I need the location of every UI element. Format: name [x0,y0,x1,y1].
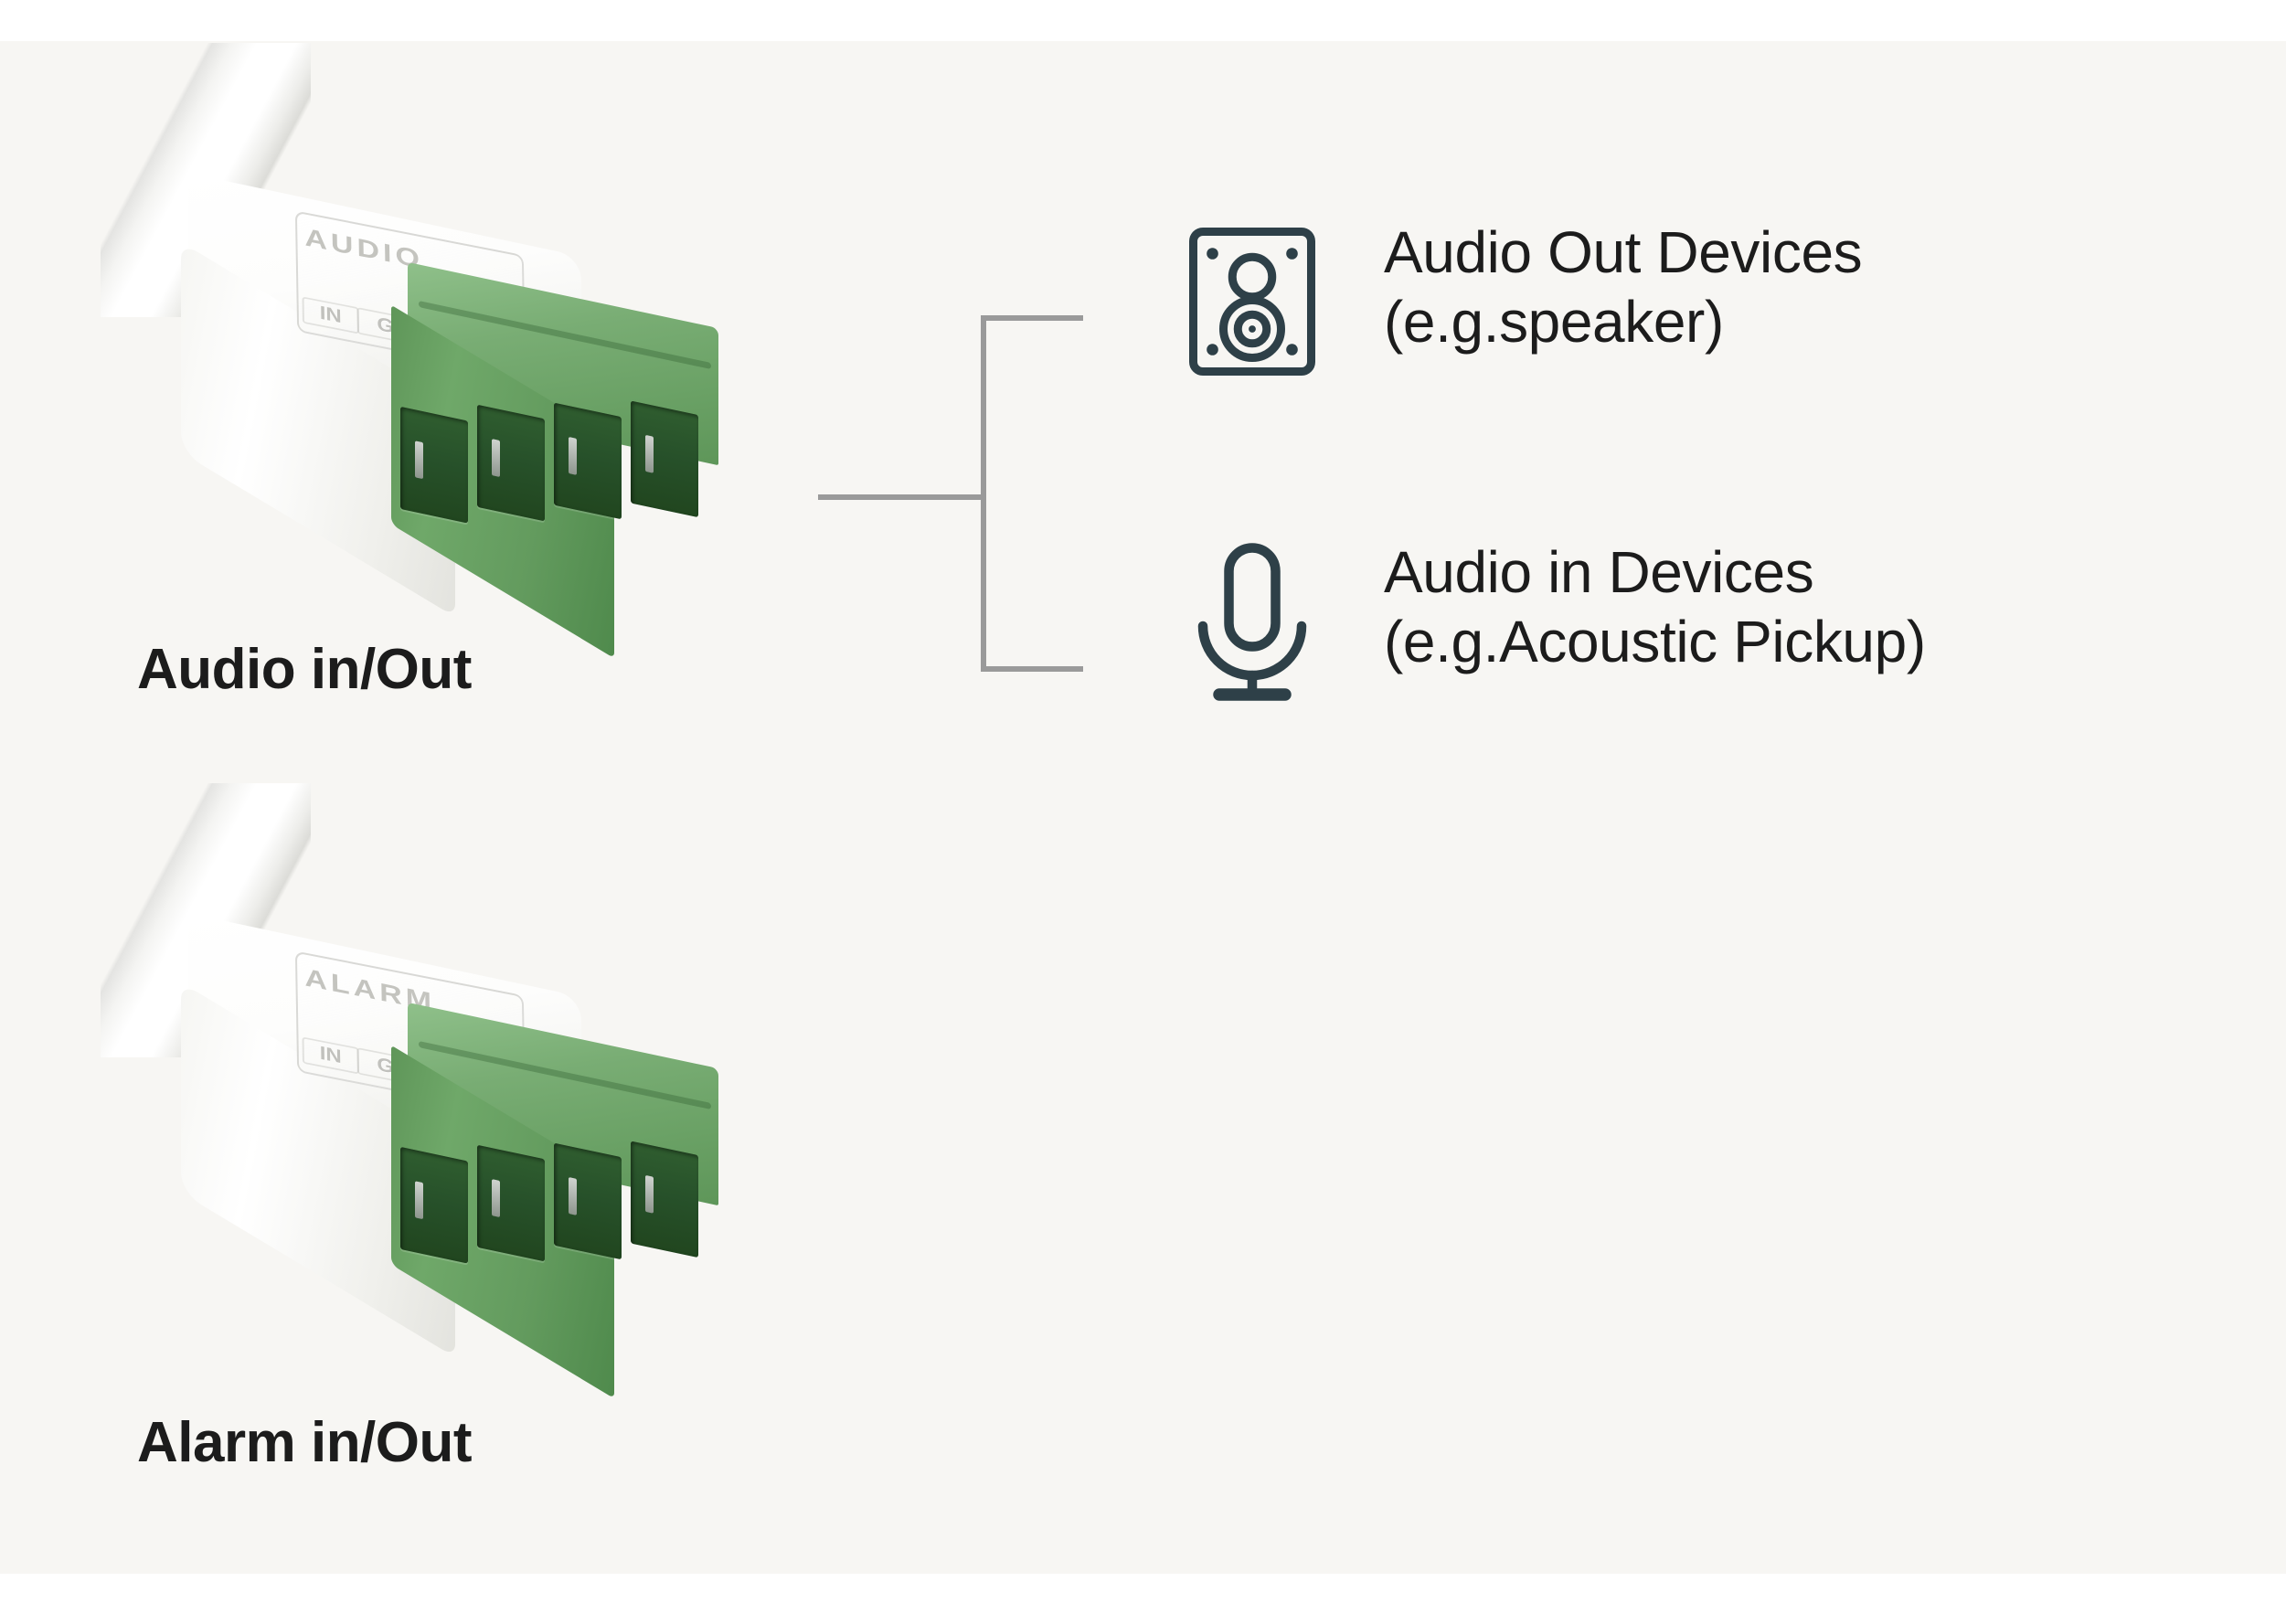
alarm-connector-photo: ALARM IN G OUT G [101,791,740,1375]
terminal-pin-slot [400,1147,468,1264]
bracket-spine [981,315,986,672]
audio-out-example: (e.g.speaker) [1384,288,1862,357]
microphone-icon [1170,535,1334,708]
alarm-caption: Alarm in/Out [137,1410,777,1475]
alarm-group: ALARM IN G OUT G [0,781,2286,1574]
terminal-pin-slot [554,1143,622,1260]
speaker-icon [1170,215,1334,388]
terminal-pin-slot [554,403,622,520]
audio-connector-photo: AUDIO IN G OUT G [101,50,740,635]
terminal-pin-slot [631,400,698,517]
audio-in-device-row: Audio in Devices (e.g.Acoustic Pickup) [1170,535,1926,708]
audio-bracket [827,315,1083,681]
audio-out-device-row: Audio Out Devices (e.g.speaker) [1170,215,1862,388]
terminal-pin-slot [631,1141,698,1258]
alarm-terminal-block [391,1035,728,1337]
audio-out-device-text: Audio Out Devices (e.g.speaker) [1384,215,1862,356]
audio-terminal-block [391,295,728,597]
terminal-pin-slot [400,407,468,524]
audio-out-title: Audio Out Devices [1384,219,1862,285]
terminal-pin-slot [477,1145,545,1262]
audio-group: AUDIO IN G OUT G [0,41,2286,791]
bracket-arm-top [981,315,1083,321]
audio-in-example: (e.g.Acoustic Pickup) [1384,608,1926,677]
audio-in-title: Audio in Devices [1384,539,1813,605]
audio-in-device-text: Audio in Devices (e.g.Acoustic Pickup) [1384,535,1926,676]
bracket-stem [818,494,983,500]
terminal-pin-slot [477,405,545,522]
audio-caption: Audio in/Out [137,637,777,702]
diagram-page: AUDIO IN G OUT G [0,0,2286,1624]
bracket-arm-bottom [981,666,1083,672]
